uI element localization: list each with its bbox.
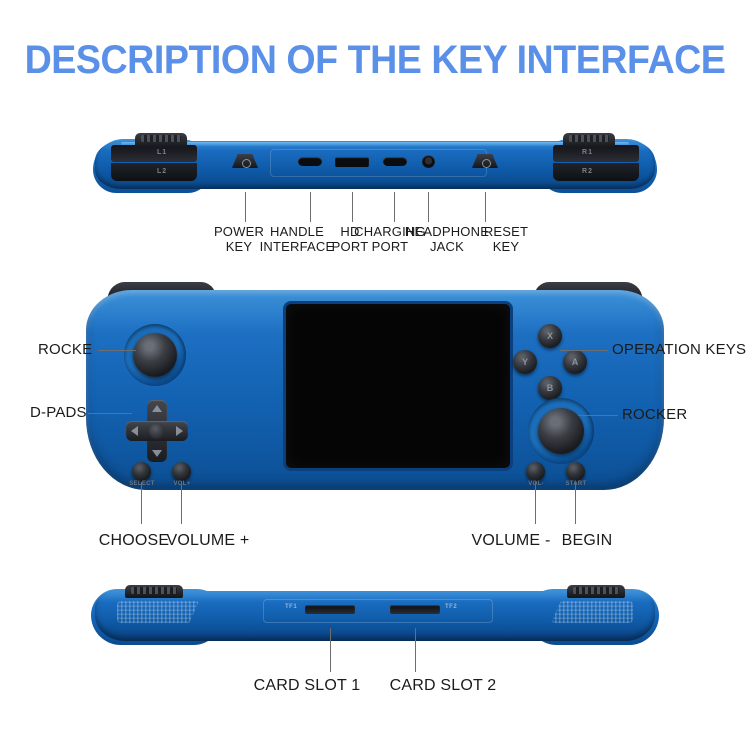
card-slot-2-cap: TF2 <box>445 604 457 610</box>
leader-volume-minus <box>535 482 536 524</box>
card-slot-1-cap: TF1 <box>285 604 297 610</box>
start-button-cap: START <box>565 481 586 487</box>
select-button[interactable] <box>132 462 151 481</box>
right-speaker-grille <box>551 601 633 623</box>
label-reset-key-line1: RESET <box>484 224 528 239</box>
leader-card-slot-1 <box>330 628 331 672</box>
label-power-key: POWER KEY <box>214 224 264 254</box>
left-rocker[interactable] <box>124 324 186 386</box>
d-pad-right-icon <box>176 426 183 436</box>
d-pad-hub <box>149 423 165 439</box>
bottom-view-left-stick <box>125 585 183 598</box>
label-power-key-line1: POWER <box>214 224 264 239</box>
start-button[interactable] <box>566 462 585 481</box>
leader-card-slot-2 <box>415 628 416 672</box>
label-handle-interface: HANDLE INTERFACE <box>260 224 335 254</box>
front-face-view: X Y A B SELECT VOL+ VOL- START <box>86 280 664 495</box>
label-dpads: D-PADS <box>30 405 87 420</box>
label-operation-keys: OPERATION KEYS <box>612 342 746 357</box>
shoulder-label-l2: L2 <box>157 168 167 175</box>
leader-volume-plus <box>181 482 182 524</box>
label-volume-plus: VOLUME + <box>167 533 250 548</box>
label-power-key-line2: KEY <box>214 239 264 254</box>
label-volume-minus: VOLUME - <box>472 533 551 548</box>
volume-up-button-cap: VOL+ <box>173 481 190 487</box>
leader-dpads <box>88 413 132 414</box>
hd-port <box>335 157 369 167</box>
d-pad[interactable] <box>126 400 188 462</box>
handle-interface-port <box>298 157 322 166</box>
label-handle-interface-line1: HANDLE <box>260 224 335 239</box>
label-card-slot-1: CARD SLOT 1 <box>254 678 361 693</box>
card-slot-1 <box>305 605 355 614</box>
label-reset-key: RESET KEY <box>484 224 528 254</box>
label-headphone-jack: HEADPHONE JACK <box>405 224 489 254</box>
label-handle-interface-line2: INTERFACE <box>260 239 335 254</box>
page-title: DESCRIPTION OF THE KEY INTERFACE <box>23 38 728 83</box>
label-headphone-jack-line1: HEADPHONE <box>405 224 489 239</box>
diagram-canvas: DESCRIPTION OF THE KEY INTERFACE L1 L2 R… <box>0 0 750 750</box>
volume-down-button[interactable] <box>526 462 545 481</box>
bottom-edge-view: TF1 TF2 <box>95 585 655 647</box>
leader-right-rocker <box>578 415 618 416</box>
left-rocker-cap <box>133 333 177 377</box>
face-button-x[interactable]: X <box>538 324 562 348</box>
left-speaker-grille <box>117 601 199 623</box>
face-button-b[interactable]: B <box>538 376 562 400</box>
leader-headphone-jack <box>428 192 429 222</box>
bottom-view-right-stick <box>567 585 625 598</box>
leader-left-rocker <box>98 350 136 351</box>
shoulder-label-r1: R1 <box>582 149 593 156</box>
face-button-a[interactable]: A <box>563 350 587 374</box>
leader-handle-interface <box>310 192 311 222</box>
headphone-jack <box>422 155 435 168</box>
top-view-left-stick <box>135 133 187 147</box>
label-right-rocker: ROCKER <box>622 407 687 422</box>
device-screen <box>286 304 510 468</box>
label-left-rocker: ROCKE <box>38 342 92 357</box>
d-pad-left-icon <box>131 426 138 436</box>
volume-up-button[interactable] <box>172 462 191 481</box>
leader-operation-keys <box>560 350 608 351</box>
leader-reset-key <box>485 192 486 222</box>
label-begin: BEGIN <box>562 533 613 548</box>
label-headphone-jack-line2: JACK <box>405 239 489 254</box>
volume-down-button-cap: VOL- <box>528 481 544 487</box>
d-pad-down-icon <box>152 450 162 457</box>
top-view-right-stick <box>563 133 615 147</box>
shoulder-button-l2 <box>111 163 197 181</box>
d-pad-up-icon <box>152 405 162 412</box>
select-button-cap: SELECT <box>129 481 154 487</box>
leader-begin <box>575 482 576 524</box>
shoulder-label-r2: R2 <box>582 168 593 175</box>
label-card-slot-2: CARD SLOT 2 <box>390 678 497 693</box>
leader-hd-port <box>352 192 353 222</box>
shoulder-label-l1: L1 <box>157 149 167 156</box>
shoulder-button-l1 <box>111 145 197 162</box>
shoulder-button-r2 <box>553 163 639 181</box>
card-slot-2 <box>390 605 440 614</box>
right-rocker[interactable] <box>528 398 594 464</box>
shoulder-button-r1 <box>553 145 639 162</box>
bottom-view-slot-plate <box>263 599 493 623</box>
face-button-y[interactable]: Y <box>513 350 537 374</box>
charging-port <box>383 157 407 166</box>
label-reset-key-line2: KEY <box>484 239 528 254</box>
leader-charging-port <box>394 192 395 222</box>
leader-choose <box>141 482 142 524</box>
label-choose: CHOOSE <box>99 533 170 548</box>
top-edge-view: L1 L2 R1 R2 <box>95 133 655 195</box>
leader-power-key <box>245 192 246 222</box>
